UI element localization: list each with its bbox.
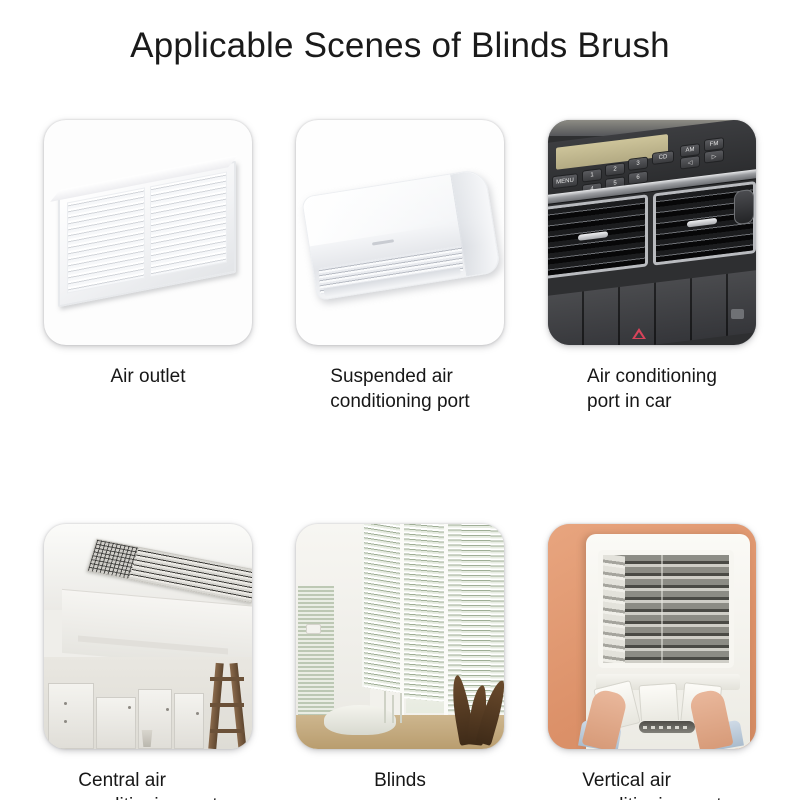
wall-switch[interactable] [306, 624, 321, 634]
radio-button-prev[interactable]: ◁ [680, 155, 700, 169]
car-ac-caption: Air conditioning port in car [587, 364, 717, 414]
split-ac-unit-illustration [296, 120, 504, 345]
hand-left [581, 688, 628, 749]
air-outlet-caption: Air outlet [111, 364, 186, 389]
scene-card-suspended-ac[interactable]: Suspended air conditioning port [274, 120, 526, 414]
infographic-page: Applicable Scenes of Blinds Brush [0, 0, 800, 800]
wooden-sculpture [454, 673, 500, 745]
vent-adjuster-tab-right[interactable] [687, 218, 717, 228]
radio-button-menu[interactable]: MENU [552, 173, 578, 189]
radio-button-next[interactable]: ▷ [704, 149, 724, 163]
scene-card-blinds[interactable]: Blinds [274, 524, 526, 800]
car-dashboard-illustration: MENU 1 2 3 CD AM FM 4 5 6 ◁ ▷ [548, 120, 756, 345]
blinds-caption: Blinds [374, 768, 426, 793]
scene-card-air-outlet[interactable]: Air outlet [22, 120, 274, 414]
blind-panel-2[interactable] [402, 524, 446, 702]
car-vent-left[interactable] [548, 194, 648, 279]
ac-louver-grille [598, 550, 734, 668]
scene-grid: Air outlet [22, 120, 778, 800]
vertical-ac-unit [586, 534, 750, 749]
radio-button-2[interactable]: 2 [605, 162, 625, 176]
radio-button-cd[interactable]: CD [652, 150, 674, 165]
vertical-ac-caption: Vertical air conditioning port [582, 768, 721, 800]
defrost-icon[interactable] [731, 309, 744, 319]
venetian-blinds-illustration [296, 524, 504, 749]
blind-panel-1[interactable] [362, 524, 402, 693]
air-vent-grille-illustration [44, 120, 252, 345]
blinds-image [296, 524, 504, 749]
suspended-ac-image [296, 120, 504, 345]
hand-right [688, 688, 733, 749]
wooden-ladder [210, 663, 246, 749]
radio-button-1[interactable]: 1 [582, 168, 602, 182]
vent-adjuster-tab-left[interactable] [578, 231, 608, 241]
vertical-ac-image [548, 524, 756, 749]
hazard-light-icon[interactable] [632, 328, 646, 339]
ceiling-diffuser-illustration [44, 524, 252, 749]
climate-knob[interactable] [734, 189, 754, 225]
page-title: Applicable Scenes of Blinds Brush [0, 26, 800, 66]
scene-row-1: Air outlet [22, 120, 778, 414]
scene-row-2: Central air conditioning port [22, 524, 778, 800]
suspended-ac-caption: Suspended air conditioning port [330, 364, 469, 414]
scene-card-vertical-ac[interactable]: Vertical air conditioning port [526, 524, 778, 800]
central-ac-caption: Central air conditioning port [78, 768, 217, 800]
central-ac-image [44, 524, 252, 749]
scene-card-central-ac[interactable]: Central air conditioning port [22, 524, 274, 800]
car-ac-image: MENU 1 2 3 CD AM FM 4 5 6 ◁ ▷ [548, 120, 756, 345]
dashboard-lower-panel [548, 270, 756, 345]
scene-card-car-ac[interactable]: MENU 1 2 3 CD AM FM 4 5 6 ◁ ▷ [526, 120, 778, 414]
control-panel[interactable] [638, 720, 696, 734]
vertical-ac-illustration [548, 524, 756, 749]
radio-button-3[interactable]: 3 [628, 156, 648, 170]
glass-stems [380, 689, 414, 723]
air-outlet-image [44, 120, 252, 345]
